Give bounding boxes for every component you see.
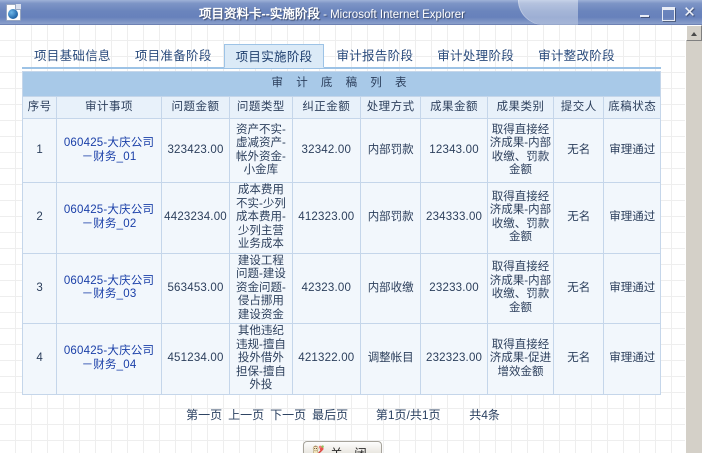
- column-header-draft-status: 底稿状态: [604, 97, 661, 119]
- tab-project-basic-info[interactable]: 项目基础信息: [22, 43, 123, 67]
- close-button-label: 关 闭: [328, 443, 370, 453]
- cell-problem-type: 其他违纪违规-擅自投外借外担保-擅自外投: [230, 324, 292, 395]
- column-header-handling-method: 处理方式: [361, 97, 421, 119]
- tab-project-implementation-stage[interactable]: 项目实施阶段: [224, 44, 325, 68]
- column-header-correction-amount: 纠正金额: [292, 97, 360, 119]
- cell-problem-amount: 451234.00: [161, 324, 229, 395]
- window-title-cn: 项目资料卡--实施阶段: [199, 7, 320, 21]
- cell-correction-amount: 421322.00: [292, 324, 360, 395]
- cell-result-type: 取得直接经济成果-内部收缴、罚款金额: [487, 253, 553, 324]
- minimize-button[interactable]: [638, 5, 653, 20]
- maximize-button[interactable]: [660, 5, 675, 20]
- column-header-result-type: 成果类别: [487, 97, 553, 119]
- cell-audit-item: 060425-大庆公司－财务_02: [57, 183, 162, 254]
- column-header-problem-amount: 问题金额: [161, 97, 229, 119]
- cell-index: 3: [23, 253, 57, 324]
- table-row: 1 060425-大庆公司－财务_01 323423.00 资产不实-虚减资产-…: [23, 119, 661, 183]
- cell-handling-method: 内部罚款: [361, 183, 421, 254]
- mascot-icon: [308, 444, 324, 453]
- window-title-area: 项目资料卡--实施阶段 - Microsoft Internet Explore…: [26, 0, 638, 25]
- tab-project-preparation-stage[interactable]: 项目准备阶段: [123, 43, 224, 67]
- column-header-submitter: 提交人: [554, 97, 604, 119]
- vertical-scrollbar[interactable]: [685, 25, 702, 453]
- close-window-button[interactable]: ✕: [682, 5, 697, 20]
- browser-window: 项目资料卡--实施阶段 - Microsoft Internet Explore…: [0, 0, 702, 453]
- cell-correction-amount: 42323.00: [292, 253, 360, 324]
- column-header-audit-item: 审计事项: [57, 97, 162, 119]
- cell-submitter: 无名: [554, 119, 604, 183]
- window-icon-area: [0, 0, 26, 25]
- cell-result-type: 取得直接经济成果-促进增效金额: [487, 324, 553, 395]
- tab-label: 审计整改阶段: [538, 49, 615, 63]
- prev-page-link[interactable]: 上一页: [228, 408, 264, 422]
- next-page-link[interactable]: 下一页: [270, 408, 306, 422]
- cell-handling-method: 调整帐目: [361, 324, 421, 395]
- tab-audit-rectification-stage[interactable]: 审计整改阶段: [526, 43, 627, 67]
- column-header-problem-type: 问题类型: [230, 97, 292, 119]
- cell-result-amount: 23233.00: [421, 253, 487, 324]
- tab-audit-report-stage[interactable]: 审计报告阶段: [324, 43, 425, 67]
- total-records-label: 共4条: [469, 408, 500, 422]
- table-row: 2 060425-大庆公司－财务_02 4423234.00 成本费用不实-少列…: [23, 183, 661, 254]
- cell-submitter: 无名: [554, 183, 604, 254]
- cell-audit-item: 060425-大庆公司－财务_03: [57, 253, 162, 324]
- cell-problem-amount: 4423234.00: [161, 183, 229, 254]
- tab-label: 审计报告阶段: [336, 49, 413, 63]
- cell-draft-status: 审理通过: [604, 324, 661, 395]
- cell-index: 2: [23, 183, 57, 254]
- table-caption: 审 计 底 稿 列 表: [23, 72, 661, 97]
- cell-audit-item: 060425-大庆公司－财务_01: [57, 119, 162, 183]
- table-row: 4 060425-大庆公司－财务_04 451234.00 其他违纪违规-擅自投…: [23, 324, 661, 395]
- table-header-row: 序号 审计事项 问题金额 问题类型 纠正金额 处理方式 成果金额 成果类别 提交…: [23, 97, 661, 119]
- tab-label: 项目基础信息: [34, 49, 111, 63]
- cell-draft-status: 审理通过: [604, 183, 661, 254]
- cell-problem-amount: 323423.00: [161, 119, 229, 183]
- table-caption-row: 审 计 底 稿 列 表: [23, 72, 661, 97]
- cell-submitter: 无名: [554, 253, 604, 324]
- first-page-link[interactable]: 第一页: [186, 408, 222, 422]
- tab-audit-handling-stage[interactable]: 审计处理阶段: [425, 43, 526, 67]
- audit-item-link[interactable]: 060425-大庆公司－财务_02: [64, 204, 154, 230]
- last-page-link[interactable]: 最后页: [312, 408, 348, 422]
- scroll-up-arrow-icon[interactable]: [686, 25, 702, 41]
- pagination-links: 第一页上一页下一页最后页: [183, 406, 351, 423]
- tab-label: 项目准备阶段: [135, 49, 212, 63]
- cell-draft-status: 审理通过: [604, 253, 661, 324]
- cell-audit-item: 060425-大庆公司－财务_04: [57, 324, 162, 395]
- cell-handling-method: 内部收缴: [361, 253, 421, 324]
- audit-worksheet-table: 审 计 底 稿 列 表 序号 审计事项 问题金额 问题类型 纠正金额 处理方式 …: [22, 71, 661, 395]
- cell-result-amount: 234333.00: [421, 183, 487, 254]
- cell-problem-type: 资产不实-虚减资产-帐外资金-小金库: [230, 119, 292, 183]
- cell-result-amount: 232323.00: [421, 324, 487, 395]
- cell-problem-type: 成本费用不实-少列成本费用-少列主营业务成本: [230, 183, 292, 254]
- footer-bar: 关 闭: [0, 441, 685, 453]
- cell-correction-amount: 32342.00: [292, 119, 360, 183]
- table-row: 3 060425-大庆公司－财务_03 563453.00 建设工程问题-建设资…: [23, 253, 661, 324]
- cell-problem-amount: 563453.00: [161, 253, 229, 324]
- cell-result-amount: 12343.00: [421, 119, 487, 183]
- audit-item-link[interactable]: 060425-大庆公司－财务_01: [64, 137, 154, 163]
- page-content: 项目基础信息 项目准备阶段 项目实施阶段 审计报告阶段 审计处理阶段 审计整改阶…: [0, 25, 685, 453]
- cell-index: 1: [23, 119, 57, 183]
- cell-submitter: 无名: [554, 324, 604, 395]
- page-canvas: 项目基础信息 项目准备阶段 项目实施阶段 审计报告阶段 审计处理阶段 审计整改阶…: [0, 25, 702, 453]
- pagination-bar: 第一页上一页下一页最后页 第1页/共1页 共4条: [22, 406, 661, 423]
- window-title-en: - Microsoft Internet Explorer: [320, 9, 465, 21]
- cell-index: 4: [23, 324, 57, 395]
- cell-result-type: 取得直接经济成果-内部收缴、罚款金额: [487, 119, 553, 183]
- audit-worksheet-table-wrapper: 审 计 底 稿 列 表 序号 审计事项 问题金额 问题类型 纠正金额 处理方式 …: [22, 71, 661, 395]
- tab-label: 审计处理阶段: [437, 49, 514, 63]
- cell-draft-status: 审理通过: [604, 119, 661, 183]
- column-header-index: 序号: [23, 97, 57, 119]
- page-title: 项目资料卡--实施阶段 - Microsoft Internet Explore…: [199, 3, 465, 22]
- tab-label: 项目实施阶段: [236, 50, 313, 64]
- cell-problem-type: 建设工程问题-建设资金问题-侵占挪用建设资金: [230, 253, 292, 324]
- close-dialog-button[interactable]: 关 闭: [303, 441, 381, 453]
- cell-handling-method: 内部罚款: [361, 119, 421, 183]
- cell-result-type: 取得直接经济成果-内部收缴、罚款金额: [487, 183, 553, 254]
- window-titlebar[interactable]: 项目资料卡--实施阶段 - Microsoft Internet Explore…: [0, 0, 702, 25]
- audit-item-link[interactable]: 060425-大庆公司－财务_04: [64, 345, 154, 371]
- column-header-result-amount: 成果金额: [421, 97, 487, 119]
- window-controls: ✕: [638, 5, 702, 20]
- audit-item-link[interactable]: 060425-大庆公司－财务_03: [64, 275, 154, 301]
- page-info-label: 第1页/共1页: [376, 408, 441, 422]
- ie-document-icon: [6, 4, 21, 21]
- cell-correction-amount: 412323.00: [292, 183, 360, 254]
- stage-tabstrip: 项目基础信息 项目准备阶段 项目实施阶段 审计报告阶段 审计处理阶段 审计整改阶…: [22, 43, 661, 69]
